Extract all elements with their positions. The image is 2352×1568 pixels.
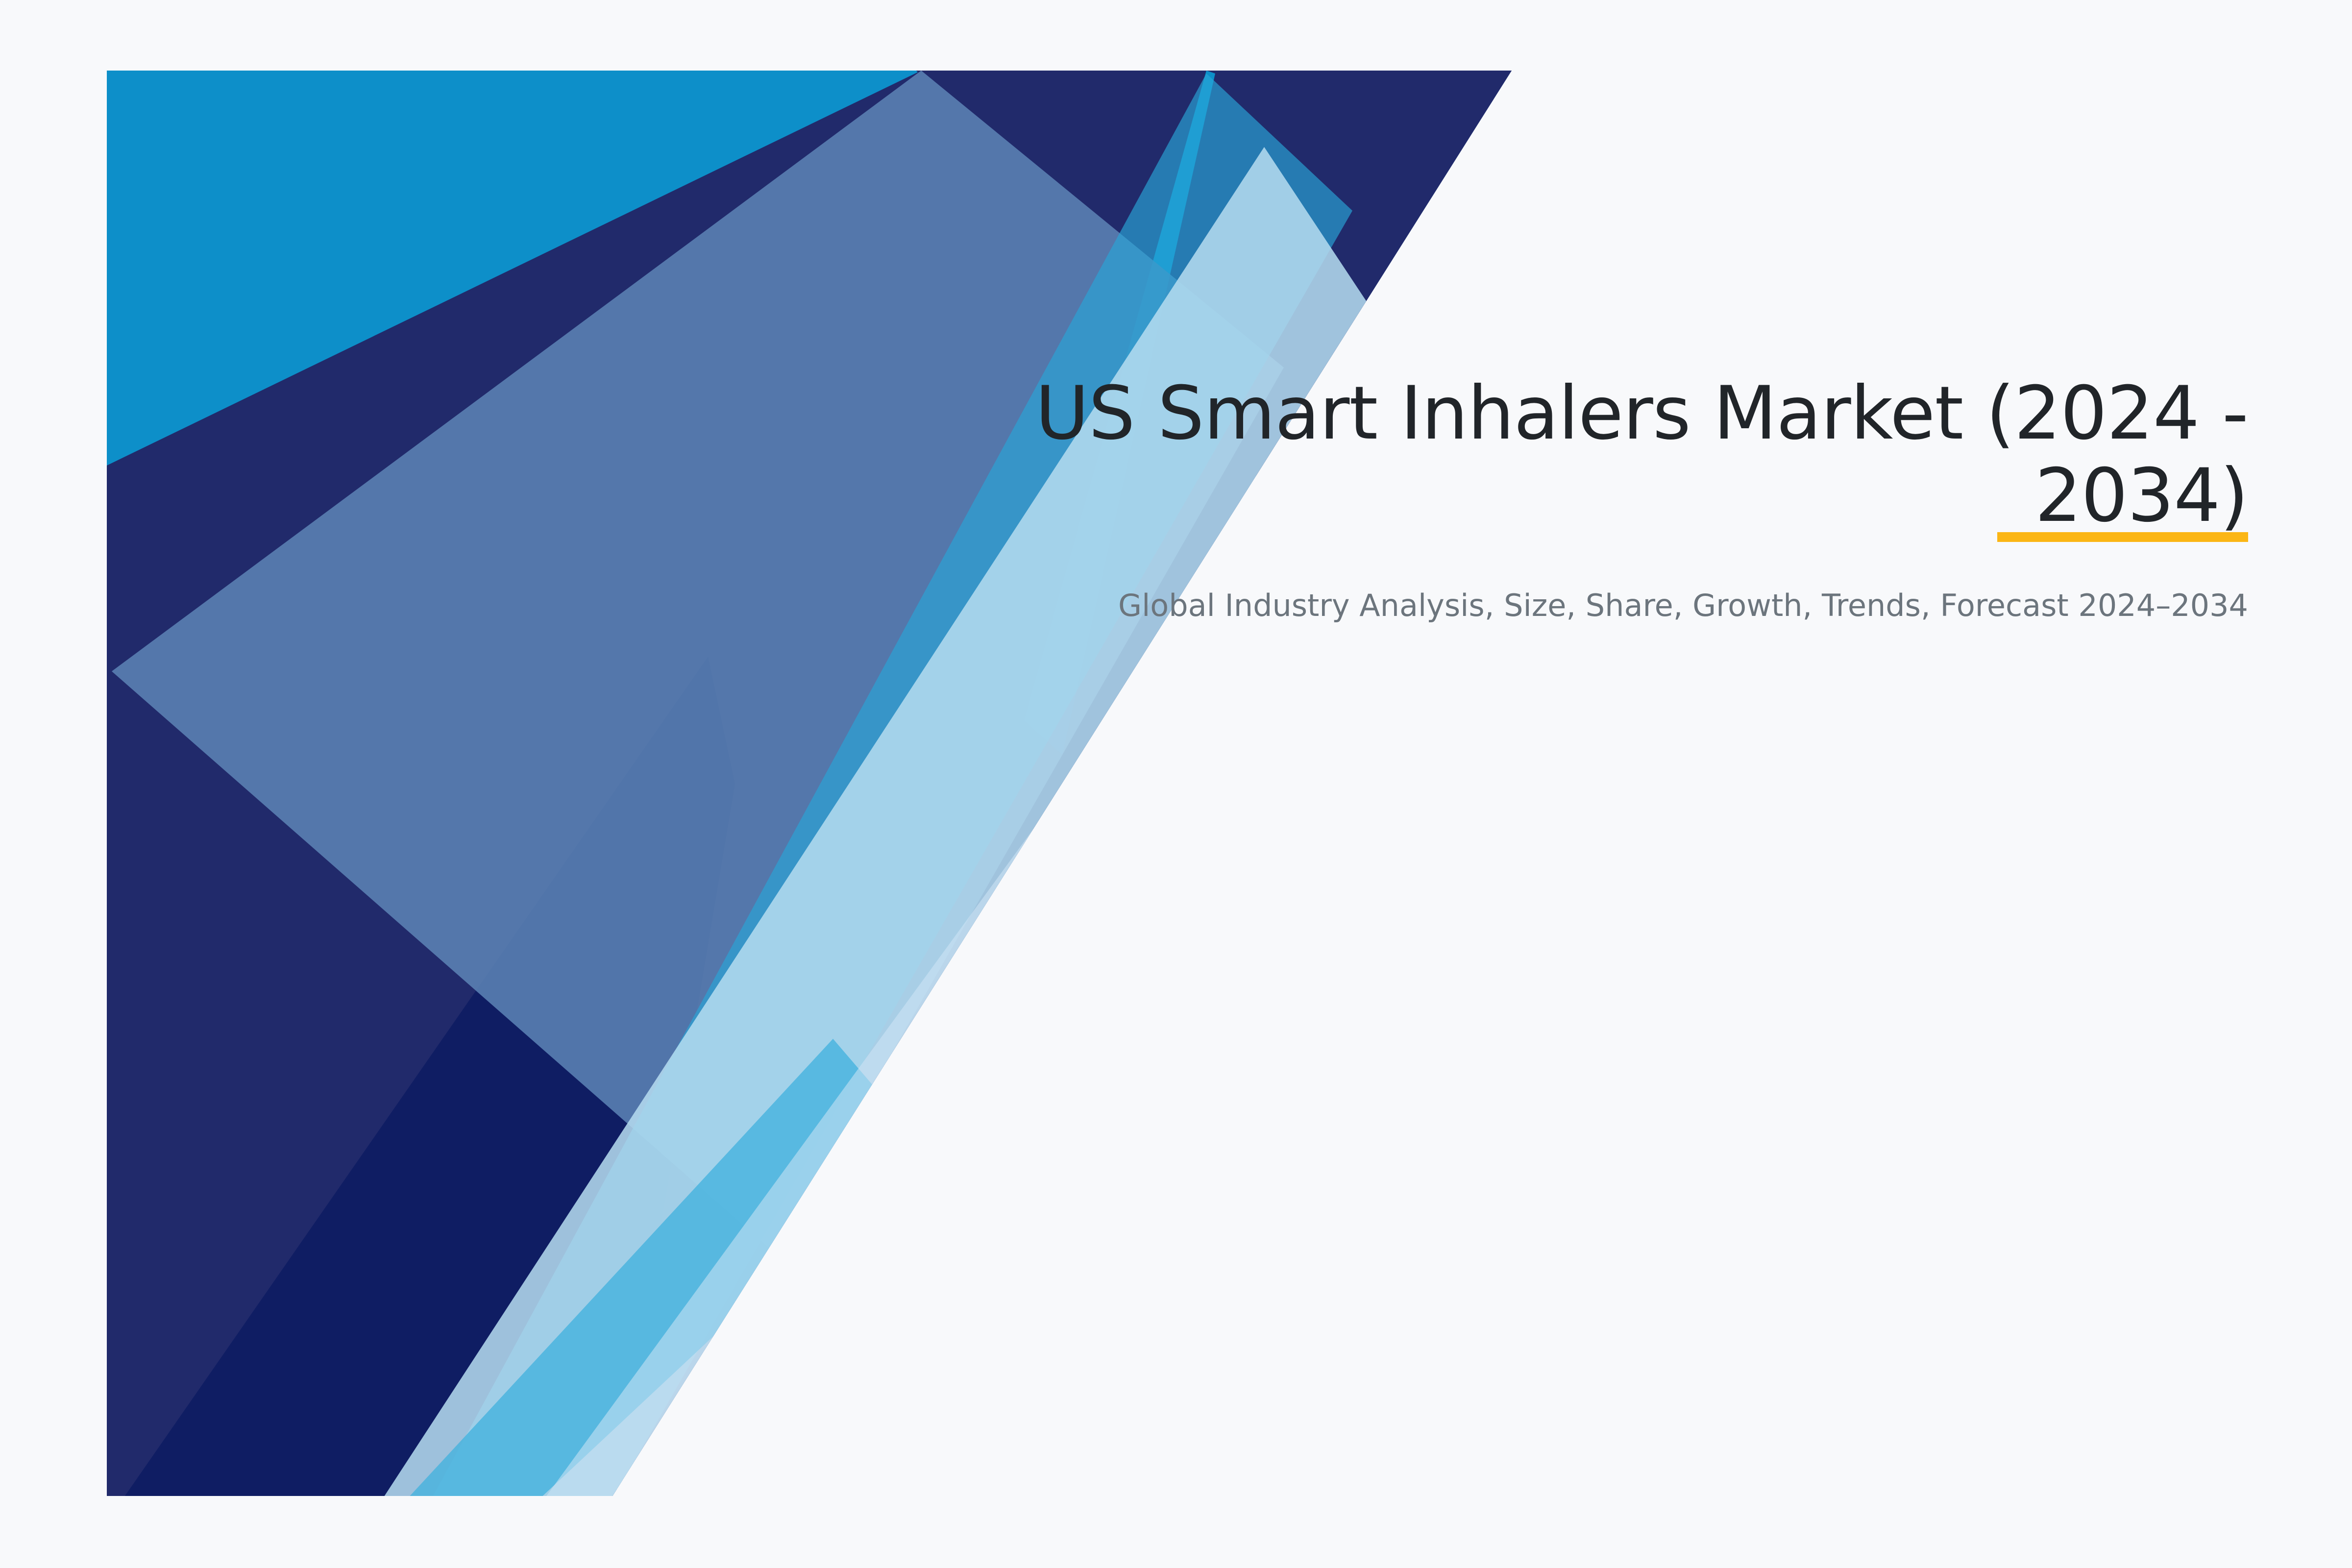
page-title: US Smart Inhalers Market (2024 - 2034) (970, 372, 2248, 537)
page-subtitle: Global Industry Analysis, Size, Share, G… (970, 537, 2248, 626)
cover-text-block: US Smart Inhalers Market (2024 - 2034) G… (970, 372, 2248, 626)
title-wrapper: US Smart Inhalers Market (2024 - 2034) (970, 372, 2248, 537)
cover-slide: US Smart Inhalers Market (2024 - 2034) G… (0, 0, 2352, 1568)
artwork-panel (0, 0, 2352, 1568)
